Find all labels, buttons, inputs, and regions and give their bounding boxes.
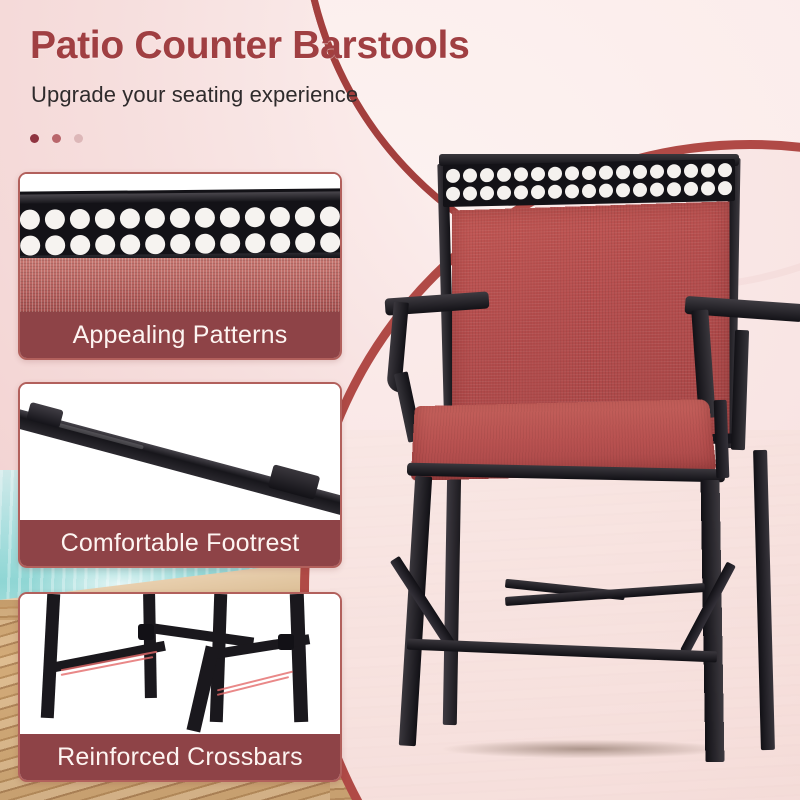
feature-image-crossbars bbox=[20, 594, 340, 734]
crossbar-leg-4 bbox=[290, 594, 308, 722]
right-arm-brace bbox=[731, 330, 749, 450]
feature-label-comfortable-footrest: Comfortable Footrest bbox=[20, 520, 340, 566]
feature-label-appealing-patterns: Appealing Patterns bbox=[20, 312, 340, 358]
page-subtitle: Upgrade your seating experience bbox=[31, 82, 358, 108]
lattice-row-bottom bbox=[446, 181, 732, 201]
carousel-dot-3[interactable] bbox=[74, 134, 83, 143]
crossbar-joint-2 bbox=[278, 634, 294, 650]
lattice-band-closeup bbox=[20, 188, 340, 265]
decorative-lattice-panel bbox=[443, 159, 735, 207]
feature-label-reinforced-crossbars: Reinforced Crossbars bbox=[20, 734, 340, 780]
feature-image-lattice-pattern bbox=[20, 174, 340, 312]
crossbar-joint-1 bbox=[138, 624, 154, 640]
sling-fabric-closeup bbox=[20, 258, 340, 312]
carousel-dots[interactable] bbox=[30, 134, 83, 143]
page-title: Patio Counter Barstools bbox=[30, 24, 470, 68]
feature-card-reinforced-crossbars[interactable]: Reinforced Crossbars bbox=[18, 592, 342, 782]
carousel-dot-1[interactable] bbox=[30, 134, 39, 143]
product-shadow bbox=[385, 736, 785, 762]
crossbar-leg-1 bbox=[41, 594, 60, 718]
lattice-row-top bbox=[446, 163, 732, 183]
feature-card-appealing-patterns[interactable]: Appealing Patterns bbox=[18, 172, 342, 360]
feature-image-footrest bbox=[20, 384, 340, 520]
barstool-product-image bbox=[385, 150, 800, 800]
product-banner: Patio Counter Barstools Upgrade your sea… bbox=[0, 0, 800, 800]
seat-right-rail bbox=[714, 400, 730, 478]
feature-card-comfortable-footrest[interactable]: Comfortable Footrest bbox=[18, 382, 342, 568]
footrest-bar-closeup bbox=[20, 406, 340, 515]
back-left-leg bbox=[443, 470, 461, 725]
carousel-dot-2[interactable] bbox=[52, 134, 61, 143]
back-right-leg bbox=[753, 450, 775, 750]
crossbar-highlight-3 bbox=[217, 671, 293, 692]
